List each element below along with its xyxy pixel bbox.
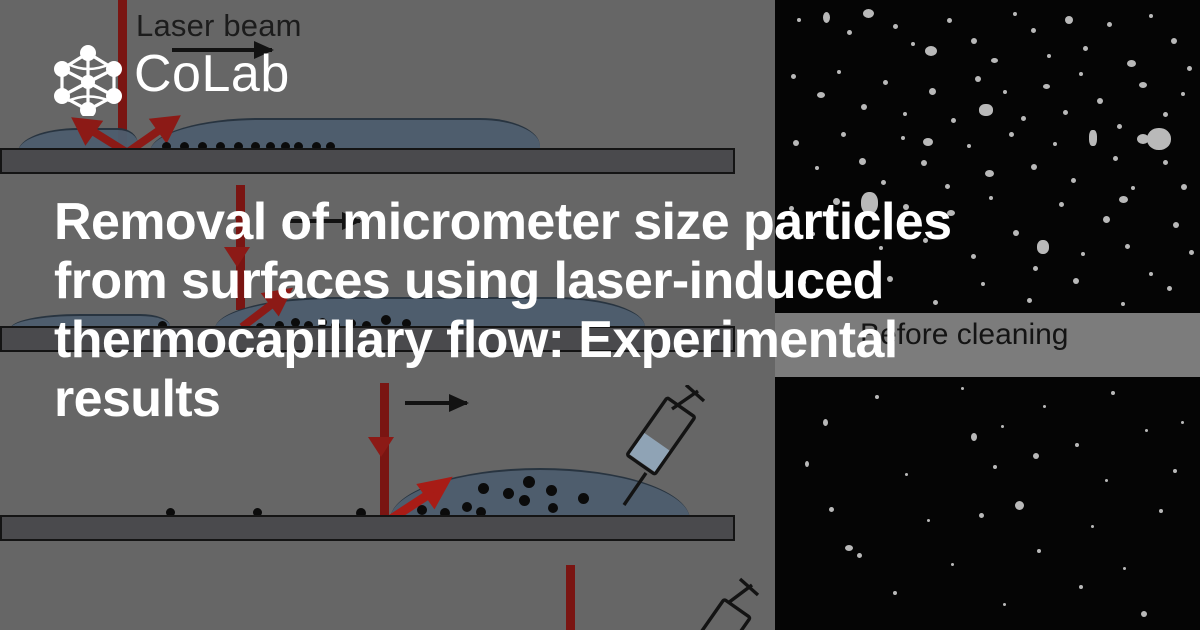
particle bbox=[548, 503, 558, 513]
colab-logo[interactable]: CoLab bbox=[48, 44, 318, 116]
particle bbox=[417, 505, 427, 515]
particle bbox=[519, 495, 530, 506]
title-line-1: Removal of micrometer size particles bbox=[54, 193, 1114, 252]
colab-wordmark: CoLab bbox=[134, 48, 290, 100]
syringe-icon-2 bbox=[680, 577, 775, 630]
particle bbox=[523, 476, 535, 488]
laser-beam-label: Laser beam bbox=[136, 8, 302, 44]
social-preview-card: Laser beam bbox=[0, 0, 1200, 630]
substrate-bar-1 bbox=[0, 148, 735, 174]
diagram-panel-4 bbox=[0, 565, 775, 630]
network-graph-icon bbox=[48, 44, 128, 116]
page-title: Removal of micrometer size particles fro… bbox=[54, 193, 1114, 429]
particle bbox=[578, 493, 589, 504]
title-line-3: thermocapillary flow: Experimental bbox=[54, 311, 1114, 370]
particle bbox=[503, 488, 514, 499]
laser-beam-head-3 bbox=[368, 437, 394, 457]
title-line-2: from surfaces using laser-induced bbox=[54, 252, 1114, 311]
substrate-bar-3 bbox=[0, 515, 735, 541]
title-line-4: results bbox=[54, 370, 1114, 429]
laser-beam-4 bbox=[566, 565, 575, 630]
particle bbox=[546, 485, 557, 496]
particle bbox=[478, 483, 489, 494]
particle bbox=[462, 502, 472, 512]
